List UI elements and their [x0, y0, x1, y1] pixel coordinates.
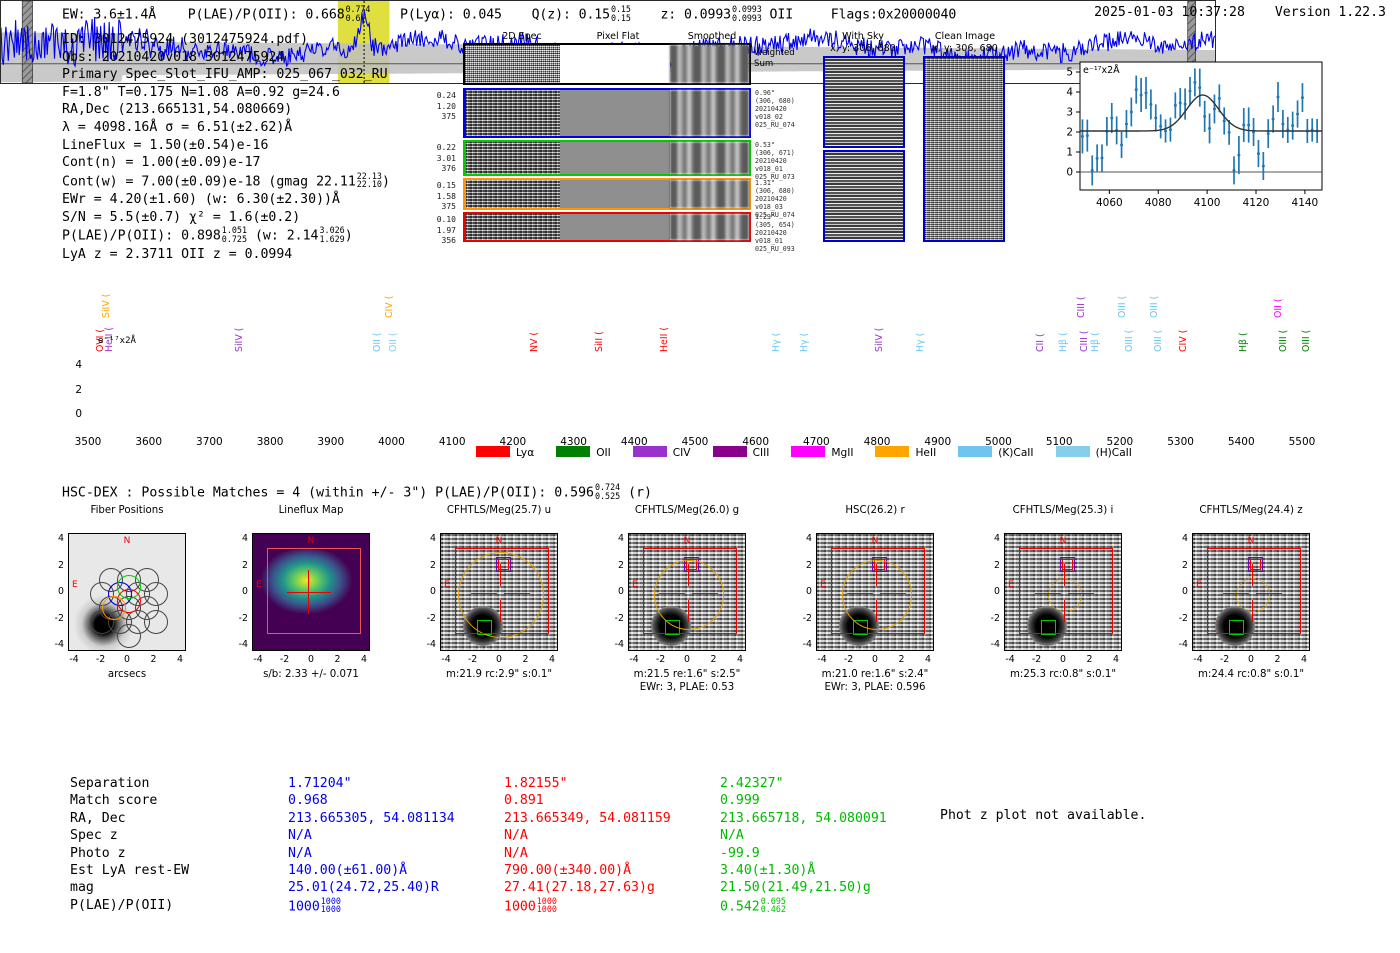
spectrum-tick: 5300 — [1159, 436, 1203, 448]
cutout-ytick: 2 — [982, 560, 1000, 571]
table-cell: 25.01(24.72,25.40)R — [288, 879, 455, 896]
cutout-xtick: 2 — [891, 654, 913, 665]
emission-line-label: Hβ ( — [1238, 332, 1249, 352]
cutout-xtick: -4 — [63, 654, 85, 665]
cutout-ytick: 4 — [418, 533, 436, 544]
emission-line-label: OIII ( — [1301, 330, 1312, 352]
emission-line-label: Hγ ( — [771, 333, 782, 352]
table-cell: N/A — [504, 845, 671, 862]
emission-line-label: OIII ( — [1153, 330, 1164, 352]
cutout-xtick: 2 — [703, 654, 725, 665]
cutout-caption: m:21.0 re:1.6" s:2.4" — [782, 669, 968, 680]
cutout-ytick: 0 — [418, 586, 436, 597]
table-cell: 790.00(±340.00)Å — [504, 862, 671, 879]
hsc-dex-header: HSC-DEX : Possible Matches = 4 (within +… — [62, 483, 652, 501]
info-primary-spec: Primary Spec_Slot_IFU_AMP: 025_067_032_R… — [62, 66, 390, 84]
emission-line-label: OIII ( — [1278, 330, 1289, 352]
photz-note: Phot z plot not available. — [940, 808, 1146, 823]
info-cont-w-range: 22.1322.10 — [357, 172, 382, 189]
fiber-color-bar — [463, 88, 466, 138]
header-plya: P(Lyα): 0.045 — [400, 8, 502, 23]
info-radec: RA,Dec (213.665131,54.080669) — [62, 101, 390, 119]
legend-swatch — [791, 446, 825, 457]
weighted-sum-row — [463, 43, 751, 85]
cutout-ytick: 2 — [230, 560, 248, 571]
emission-line-label: CIV ( — [1178, 330, 1189, 352]
cutout-ytick: -2 — [982, 613, 1000, 624]
legend-swatch — [1056, 446, 1090, 457]
header-z-range: 0.09930.0993 — [732, 5, 762, 22]
table-cell: 27.41(27.18,27.63)g — [504, 879, 671, 896]
svg-text:5: 5 — [1066, 67, 1073, 79]
cutout-xtick: -2 — [90, 654, 112, 665]
table-row-label: Spec z — [70, 827, 189, 844]
emission-line-label: CIII ( — [1079, 331, 1090, 352]
table-cell: 213.665305, 54.081134 — [288, 810, 455, 827]
svg-text:1: 1 — [1066, 147, 1073, 159]
cutout-ytick: 0 — [606, 586, 624, 597]
cutout-ytick: -4 — [794, 639, 812, 650]
match-table-row-labels: SeparationMatch scoreRA, DecSpec zPhoto … — [70, 775, 189, 914]
compass-north: N — [1060, 536, 1067, 546]
compass-north: N — [684, 536, 691, 546]
cutout-ytick: 4 — [230, 533, 248, 544]
emission-line-label: SiIV ( — [234, 328, 245, 352]
cutout-ytick: 0 — [982, 586, 1000, 597]
cutout-xtick: -2 — [1026, 654, 1048, 665]
emission-line-label: CIV ( — [384, 296, 395, 318]
emission-line-label: HeII ( — [659, 327, 670, 352]
emission-line-labels: OVI (HeII (SiIV (SiIV (OII (OII (CIV (NV… — [88, 272, 1302, 352]
info-snr: S/N = 5.5(±0.7) χ² = 1.6(±0.2) — [62, 209, 390, 227]
hsc-dex-plae-range: 0.7240.525 — [595, 483, 620, 500]
table-cell: N/A — [504, 827, 671, 844]
spectrum-tick: 3800 — [248, 436, 292, 448]
emission-line-label: OII ( — [388, 332, 399, 352]
cutout-image[interactable]: NE — [1004, 533, 1122, 651]
compass-east: E — [256, 580, 262, 590]
info-cont-n: Cont(n) = 1.00(±0.09)e-17 — [62, 154, 390, 172]
compass-north: N — [308, 536, 315, 546]
cutout-xtick: -2 — [838, 654, 860, 665]
match-column-3: 2.42327"0.999213.665718, 54.080091N/A-99… — [720, 775, 887, 916]
table-cell: 1.82155" — [504, 775, 671, 792]
panel-title-smoothed: Smoothed — [672, 31, 752, 42]
cutout-image[interactable]: NE — [68, 533, 186, 651]
info-plae-range: 1.0510.725 — [222, 226, 247, 243]
cutout-xtick: 4 — [169, 654, 191, 665]
fiber-weight-label: 0.101.97356 — [416, 215, 456, 247]
svg-text:4080: 4080 — [1145, 197, 1172, 209]
header-qz-range: 0.150.15 — [611, 5, 631, 22]
panel-title-2dspec: 2D Spec — [486, 31, 558, 42]
header-ew: EW: 3.6±1.4Å — [62, 8, 156, 23]
table-cell: 140.00(±61.00)Å — [288, 862, 455, 879]
match-column-1: 1.71204"0.968213.665305, 54.081134N/AN/A… — [288, 775, 455, 916]
spectrum-tick: 3500 — [66, 436, 110, 448]
cutout-xtick: 4 — [729, 654, 751, 665]
spectrum-tick: 4100 — [430, 436, 474, 448]
svg-text:4: 4 — [1066, 87, 1073, 99]
cutout-title: CFHTLS/Meg(26.0) g — [604, 505, 770, 516]
cutout-ytick: 0 — [1170, 586, 1188, 597]
fiber-spec-row — [463, 178, 751, 210]
cutout-xtick: 4 — [917, 654, 939, 665]
cutout-ytick: 0 — [794, 586, 812, 597]
info-lineflux: LineFlux = 1.50(±0.54)e-16 — [62, 137, 390, 155]
emission-line-label: Hβ ( — [1058, 332, 1069, 352]
spectrum-tick: 3900 — [309, 436, 353, 448]
table-row-label: Est LyA rest-EW — [70, 862, 189, 879]
table-cell: 213.665349, 54.081159 — [504, 810, 671, 827]
emission-line-legend: LyαOIICIVCIIIMgIIHeII(K)CaII(H)CaII — [476, 446, 1154, 459]
cutout-ytick: -4 — [1170, 639, 1188, 650]
cutout-caption: m:24.4 rc:0.8" s:0.1" — [1158, 669, 1344, 680]
legend-swatch — [476, 446, 510, 457]
cutout-image[interactable]: NE — [816, 533, 934, 651]
emission-line-label: NV ( — [529, 332, 540, 352]
emission-line-label: CII ( — [1035, 333, 1046, 352]
emission-line-label: Hγ ( — [915, 333, 926, 352]
emission-line-label: SiIV ( — [101, 294, 112, 318]
cutout-xtick: 0 — [300, 654, 322, 665]
table-cell: 0.891 — [504, 792, 671, 809]
spectrum-tick: 3600 — [127, 436, 171, 448]
header-z-type: OII — [770, 8, 794, 23]
cutout-image[interactable]: NE — [252, 533, 370, 651]
table-row-label: Separation — [70, 775, 189, 792]
cutout-image[interactable]: NE — [440, 533, 558, 651]
legend-swatch — [556, 446, 590, 457]
cutout-ytick: 4 — [1170, 533, 1188, 544]
fiber-metadata: 1.29"(305, 654)20210420v018_01025_RU_093 — [755, 213, 815, 253]
match-column-2: 1.82155"0.891213.665349, 54.081159N/AN/A… — [504, 775, 671, 916]
table-cell: 0.968 — [288, 792, 455, 809]
cutout-xtick: -2 — [274, 654, 296, 665]
legend-swatch — [713, 446, 747, 457]
cutout-ytick: -2 — [418, 613, 436, 624]
fiber-weight-label: 0.241.20375 — [416, 91, 456, 123]
fiber-spec-row — [463, 88, 751, 138]
cutout-image[interactable]: NE — [1192, 533, 1310, 651]
emission-line-label: SiIV ( — [874, 328, 885, 352]
fiber-color-bar — [463, 178, 466, 210]
fiber-spec-row — [463, 212, 751, 242]
cutout-xtick: 0 — [1052, 654, 1074, 665]
header-plae-range: 0.7740.6 — [346, 5, 371, 22]
svg-text:e⁻¹⁷x2Å: e⁻¹⁷x2Å — [1083, 64, 1120, 76]
cutout-ytick: 2 — [794, 560, 812, 571]
cutout-ytick: -2 — [606, 613, 624, 624]
cutout-xtick: 2 — [1079, 654, 1101, 665]
svg-text:4100: 4100 — [1194, 197, 1221, 209]
cutout-xtick: 2 — [143, 654, 165, 665]
fiber-weight-label: 0.223.01376 — [416, 143, 456, 175]
cutout-xtick: 0 — [676, 654, 698, 665]
legend-label: CIII — [753, 447, 770, 459]
cutout-xtick: -2 — [1214, 654, 1236, 665]
line-fit-plot: 40604080410041204140012345e⁻¹⁷x2Å — [1040, 52, 1330, 224]
compass-east: E — [72, 580, 78, 590]
cutout-image[interactable]: NE — [628, 533, 746, 651]
table-cell: N/A — [720, 827, 887, 844]
cutout-xtick: 2 — [327, 654, 349, 665]
report-version: Version 1.22.3 — [1275, 5, 1386, 20]
legend-label: CIV — [673, 447, 691, 459]
table-row-label: P(LAE)/P(OII) — [70, 897, 189, 914]
table-cell: 0.5420.6950.462 — [720, 897, 887, 916]
cutout-ytick: -4 — [46, 639, 64, 650]
cutout-xtick: -4 — [247, 654, 269, 665]
info-cont-w: Cont(w) = 7.00(±0.09)e-18 (gmag 22.1122.… — [62, 172, 390, 191]
cutout-ytick: 2 — [46, 560, 64, 571]
cutout-caption-2: EWr: 3, PLAE: 0.53 — [594, 682, 780, 693]
table-cell: 213.665718, 54.080091 — [720, 810, 887, 827]
cutout-ytick: -2 — [46, 613, 64, 624]
cutout-xtick: 0 — [1240, 654, 1262, 665]
legend-label: MgII — [831, 447, 853, 459]
spectrum-ytick: 4 — [60, 359, 82, 371]
cutout-ytick: 2 — [606, 560, 624, 571]
cutout-xtick: 2 — [1267, 654, 1289, 665]
cutout-ytick: -4 — [606, 639, 624, 650]
cutout-ytick: 0 — [46, 586, 64, 597]
cutout-ytick: 4 — [46, 533, 64, 544]
header-plae-label: P(LAE)/P(OII): — [188, 8, 298, 23]
cutout-xtick: 0 — [116, 654, 138, 665]
compass-north: N — [872, 536, 879, 546]
legend-label: (K)CaII — [998, 447, 1033, 459]
cutout-ytick: 0 — [230, 586, 248, 597]
compass-north: N — [496, 536, 503, 546]
info-plae-w-range: 3.0261.629 — [320, 226, 345, 243]
table-cell: 1.71204" — [288, 775, 455, 792]
header-z: z: 0.0993 — [660, 8, 731, 23]
table-cell: 0.999 — [720, 792, 887, 809]
cutout-xtick: 4 — [1293, 654, 1315, 665]
cutout-title: CFHTLS/Meg(25.3) i — [980, 505, 1146, 516]
legend-swatch — [958, 446, 992, 457]
fiber-metadata: 0.96"(306, 680)20210420v018_02025_RU_074 — [755, 89, 815, 129]
with-sky-header: With Sky x, y: 306, 680 — [818, 31, 908, 55]
fiber-color-bar — [463, 140, 466, 176]
panel-title-pixelflat: Pixel Flat — [582, 31, 654, 42]
cutout-xtick: -4 — [623, 654, 645, 665]
info-lambda-sigma: λ = 4098.16Å σ = 6.51(±2.62)Å — [62, 119, 390, 137]
compass-north: N — [1248, 536, 1255, 546]
cutout-xtick: -4 — [1187, 654, 1209, 665]
cutout-ytick: -2 — [1170, 613, 1188, 624]
spectrum-tick: 3700 — [187, 436, 231, 448]
cutout-xtick: -2 — [462, 654, 484, 665]
svg-text:0: 0 — [1066, 167, 1073, 179]
weighted-sum-label: Weighted Sum — [754, 48, 810, 70]
cutout-caption: m:21.9 rc:2.9" s:0.1" — [406, 669, 592, 680]
cutout-xtick: -4 — [435, 654, 457, 665]
table-row-label: mag — [70, 879, 189, 896]
compass-east: E — [1196, 580, 1202, 590]
fiber-color-bar — [463, 212, 466, 242]
cutout-xtick: -4 — [811, 654, 833, 665]
emission-line-label: SiII ( — [594, 331, 605, 352]
compass-east: E — [1008, 580, 1014, 590]
cutout-title: Lineflux Map — [228, 505, 394, 516]
info-redshifts: LyA z = 2.3711 OII z = 0.0994 — [62, 246, 390, 264]
header-plae-value: 0.668 — [305, 8, 344, 23]
cutout-xtick: 2 — [515, 654, 537, 665]
cutout-caption: s/b: 2.33 +/- 0.071 — [218, 669, 404, 680]
fiber-spec-row — [463, 140, 751, 176]
clean-image — [923, 56, 1005, 242]
cutout-xtick: 0 — [488, 654, 510, 665]
legend-swatch — [875, 446, 909, 457]
summary-header: EW: 3.6±1.4Å P(LAE)/P(OII): 0.6680.7740.… — [62, 5, 956, 23]
cutout-ytick: 4 — [982, 533, 1000, 544]
svg-text:2: 2 — [1066, 127, 1073, 139]
spectrum-ytick: 2 — [60, 384, 82, 396]
cutout-xtick: 4 — [1105, 654, 1127, 665]
cutout-ytick: -4 — [230, 639, 248, 650]
cutout-ytick: -2 — [794, 613, 812, 624]
emission-line-label: OIII ( — [1117, 296, 1128, 318]
table-cell: N/A — [288, 827, 455, 844]
svg-text:4140: 4140 — [1292, 197, 1319, 209]
cutout-xtick: 0 — [864, 654, 886, 665]
svg-text:4120: 4120 — [1243, 197, 1270, 209]
legend-label: HeII — [915, 447, 936, 459]
svg-text:4060: 4060 — [1096, 197, 1123, 209]
cutout-title: CFHTLS/Meg(25.7) u — [416, 505, 582, 516]
cutout-caption: m:25.3 rc:0.8" s:0.1" — [970, 669, 1156, 680]
legend-label: Lyα — [516, 447, 534, 459]
table-row-label: Match score — [70, 792, 189, 809]
cutout-title: HSC(26.2) r — [792, 505, 958, 516]
spectrum-y-ticks: 024 — [60, 352, 86, 434]
cutout-ytick: -4 — [982, 639, 1000, 650]
cutout-ytick: 2 — [1170, 560, 1188, 571]
header-qz: Q(z): 0.15 — [532, 8, 610, 23]
info-id: ID: 3012475924 (3012475924.pdf) — [62, 31, 390, 49]
table-cell: 3.40(±1.30)Å — [720, 862, 887, 879]
cutout-caption: arcsecs — [34, 669, 220, 680]
cutout-ytick: -2 — [230, 613, 248, 624]
spectrum-tick: 5400 — [1219, 436, 1263, 448]
clean-image-header: Clean Image x, y: 306, 680 — [917, 31, 1013, 55]
cutout-title: CFHTLS/Meg(24.4) z — [1168, 505, 1334, 516]
cutout-caption-2: EWr: 3, PLAE: 0.596 — [782, 682, 968, 693]
spectrum-units-label: e⁻¹⁷x2Å — [98, 336, 136, 346]
svg-text:3: 3 — [1066, 107, 1073, 119]
cutout-title: Fiber Positions — [44, 505, 210, 516]
cutout-ytick: 2 — [418, 560, 436, 571]
cutout-ytick: 4 — [606, 533, 624, 544]
legend-label: (H)CaII — [1096, 447, 1132, 459]
emission-line-label: Hγ ( — [799, 333, 810, 352]
cutout-xtick: 4 — [541, 654, 563, 665]
with-sky-image-lower — [823, 150, 905, 242]
fiber-metadata: 0.53"(306, 671)20210420v018_01025_RU_073 — [755, 141, 815, 181]
emission-line-label: OIII ( — [1149, 296, 1160, 318]
cutout-ytick: 4 — [794, 533, 812, 544]
emission-line-label: OII ( — [372, 332, 383, 352]
table-cell: N/A — [288, 845, 455, 862]
info-seeing: F=1.8" T=0.175 N=1.08 A=0.92 g=24.6 — [62, 84, 390, 102]
legend-label: OII — [596, 447, 611, 459]
legend-swatch — [633, 446, 667, 457]
compass-east: E — [444, 580, 450, 590]
table-cell: 100010001000 — [504, 897, 671, 916]
compass-east: E — [632, 580, 638, 590]
with-sky-image — [823, 56, 905, 148]
info-ewr: EWr = 4.20(±1.60) (w: 6.30(±2.30))Å — [62, 191, 390, 209]
spectrum-tick: 4000 — [370, 436, 414, 448]
emission-line-label: OIII ( — [1124, 330, 1135, 352]
spectrum-tick: 5500 — [1280, 436, 1324, 448]
timestamp-version: 2025-01-03 10:37:28 Version 1.22.3 — [1094, 5, 1386, 20]
table-cell: 100010001000 — [288, 897, 455, 916]
emission-line-label: OII ( — [1273, 298, 1284, 318]
table-cell: 21.50(21.49,21.50)g — [720, 879, 887, 896]
cutout-ytick: -4 — [418, 639, 436, 650]
info-plae: P(LAE)/P(OII): 0.8981.0510.725 (w: 2.143… — [62, 226, 390, 245]
emission-line-label: CIII ( — [1076, 297, 1087, 318]
fiber-weight-label: 0.151.58375 — [416, 181, 456, 213]
header-flags: Flags:0x20000040 — [831, 8, 956, 23]
source-info-block: ID: 3012475924 (3012475924.pdf) Obs: 202… — [62, 31, 390, 263]
cutout-xtick: -4 — [999, 654, 1021, 665]
compass-north: N — [124, 536, 131, 546]
emission-line-label: Hβ ( — [1090, 332, 1101, 352]
cutout-panels: Fiber Positions-4-2024-4-2024NEarcsecsLi… — [0, 505, 1400, 735]
cutout-xtick: 4 — [353, 654, 375, 665]
spectrum-ytick: 0 — [60, 408, 82, 420]
table-row-label: RA, Dec — [70, 810, 189, 827]
table-row-label: Photo z — [70, 845, 189, 862]
info-obs: Obs: 20210420v018_3012475924 — [62, 49, 390, 67]
compass-east: E — [820, 580, 826, 590]
cutout-caption: m:21.5 re:1.6" s:2.5" — [594, 669, 780, 680]
cutout-xtick: -2 — [650, 654, 672, 665]
table-cell: 2.42327" — [720, 775, 887, 792]
table-cell: -99.9 — [720, 845, 887, 862]
report-datetime: 2025-01-03 10:37:28 — [1094, 5, 1245, 20]
